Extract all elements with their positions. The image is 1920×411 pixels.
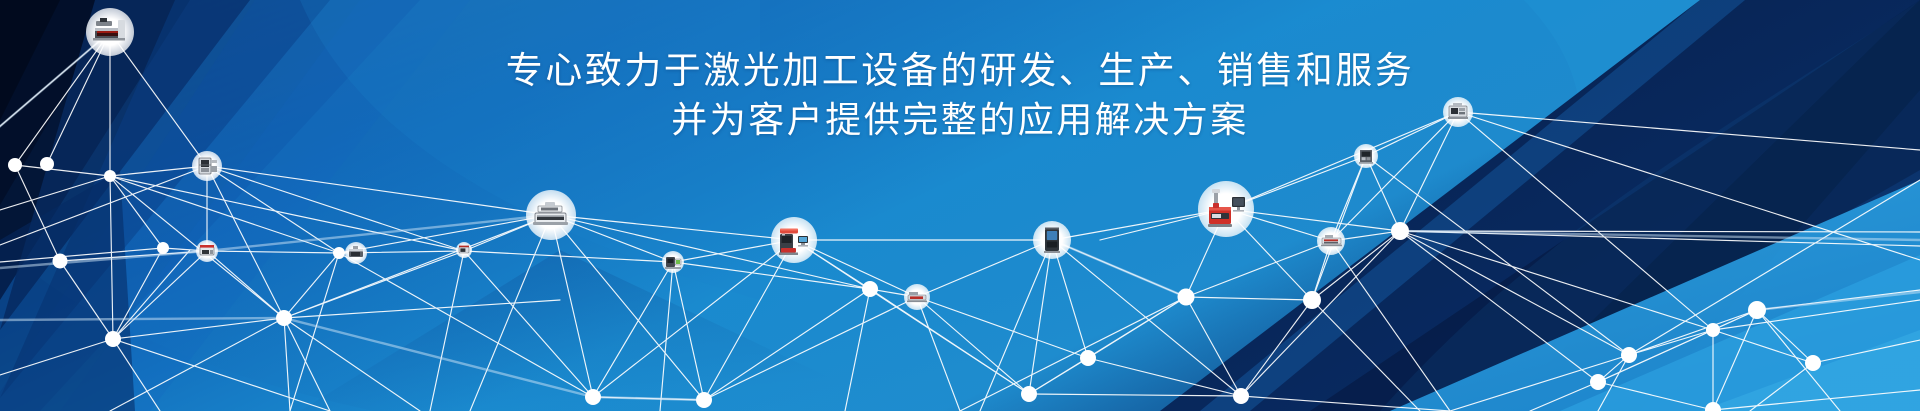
- node-machine-6: [456, 242, 472, 258]
- banner-background: [0, 0, 1920, 411]
- node-machine-9: [904, 284, 930, 310]
- hero-banner: 专心致力于激光加工设备的研发、生产、销售和服务 并为客户提供完整的应用解决方案: [0, 0, 1920, 411]
- node-machine-3: [196, 240, 218, 262]
- node-machine-13: [1354, 144, 1378, 168]
- node-machine-4: [345, 242, 367, 264]
- node-machine-2: [192, 151, 222, 181]
- node-machine-14: [1443, 97, 1473, 127]
- node-machine-11: [1198, 181, 1254, 237]
- node-machine-7: [662, 251, 684, 273]
- node-machine-5: [526, 190, 576, 240]
- node-machine-8: [771, 217, 817, 263]
- node-machine-12: [1317, 227, 1345, 255]
- node-machine-10: [1033, 221, 1071, 259]
- node-machine-1: [86, 8, 134, 56]
